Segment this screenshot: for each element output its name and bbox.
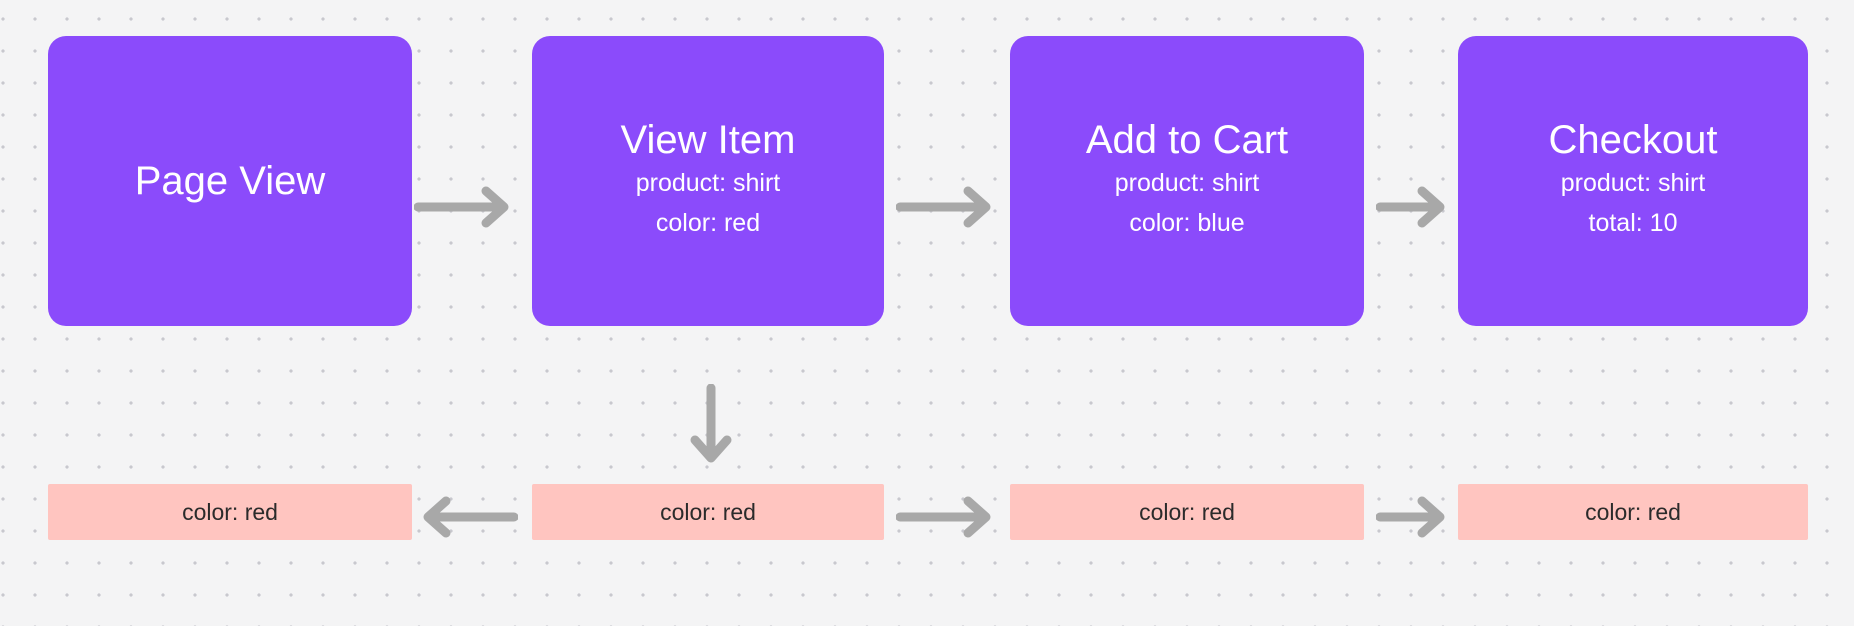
event-node-property: color: red xyxy=(656,203,760,244)
arrow-right-icon xyxy=(896,496,1000,538)
event-node-title: Checkout xyxy=(1549,118,1718,163)
arrow-down-icon xyxy=(688,384,734,472)
event-node-page-view[interactable]: Page View xyxy=(48,36,412,326)
event-node-view-item[interactable]: View Item product: shirt color: red xyxy=(532,36,884,326)
event-node-add-to-cart[interactable]: Add to Cart product: shirt color: blue xyxy=(1010,36,1364,326)
event-node-property: color: blue xyxy=(1129,203,1244,244)
property-box-label: color: red xyxy=(1585,499,1681,526)
event-node-property: product: shirt xyxy=(1115,163,1260,204)
property-box-checkout[interactable]: color: red xyxy=(1458,484,1808,540)
event-node-property: total: 10 xyxy=(1589,203,1678,244)
arrow-right-icon xyxy=(896,184,1000,230)
arrow-right-icon xyxy=(1376,184,1454,230)
property-box-label: color: red xyxy=(660,499,756,526)
arrow-left-icon xyxy=(414,496,518,538)
property-box-label: color: red xyxy=(1139,499,1235,526)
event-node-property: product: shirt xyxy=(1561,163,1706,204)
property-box-label: color: red xyxy=(182,499,278,526)
event-node-checkout[interactable]: Checkout product: shirt total: 10 xyxy=(1458,36,1808,326)
event-node-title: View Item xyxy=(621,118,796,163)
event-node-title: Page View xyxy=(135,159,326,204)
property-box-add-to-cart[interactable]: color: red xyxy=(1010,484,1364,540)
arrow-right-icon xyxy=(1376,496,1454,538)
event-node-property: product: shirt xyxy=(636,163,781,204)
property-box-page-view[interactable]: color: red xyxy=(48,484,412,540)
arrow-right-icon xyxy=(414,184,518,230)
property-box-view-item[interactable]: color: red xyxy=(532,484,884,540)
event-node-title: Add to Cart xyxy=(1086,118,1288,163)
diagram-canvas[interactable]: Page View View Item product: shirt color… xyxy=(0,0,1854,626)
